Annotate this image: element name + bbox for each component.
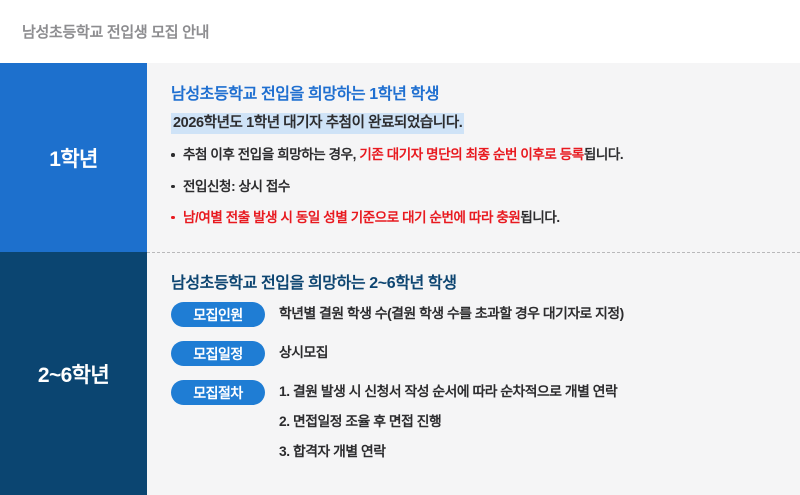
section-grade-1-heading: 남성초등학교 전입을 희망하는 1학년 학생 (171, 85, 780, 104)
sidebar-grade-2-6: 2~6학년 (0, 252, 147, 495)
section-grade-2-6-heading: 남성초등학교 전입을 희망하는 2~6학년 학생 (171, 274, 780, 293)
pill-label-procedure: 모집절차 (171, 380, 265, 405)
procedure-step-list: 1. 결원 발생 시 신청서 작성 순서에 따라 순차적으로 개별 연락 2. … (279, 383, 617, 461)
list-item: 2. 면접일정 조율 후 면접 진행 (279, 413, 617, 431)
list-item: 3. 합격자 개별 연락 (279, 443, 617, 461)
detail-row-schedule: 모집일정 상시모집 (171, 341, 780, 366)
section-grade-2-6: 2~6학년 남성초등학교 전입을 희망하는 2~6학년 학생 모집인원 학년별 … (0, 252, 800, 495)
bullet-text-part: 됩니다. (584, 147, 623, 162)
bullet-text-part: 됩니다. (520, 210, 559, 225)
divider-line (147, 252, 800, 253)
announcement-page: 남성초등학교 전입생 모집 안내 1학년 남성초등학교 전입을 희망하는 1학년… (0, 0, 800, 495)
section-grade-1-body: 남성초등학교 전입을 희망하는 1학년 학생 2026학년도 1학년 대기자 추… (147, 63, 800, 252)
page-title: 남성초등학교 전입생 모집 안내 (22, 21, 209, 42)
list-item: 1. 결원 발생 시 신청서 작성 순서에 따라 순차적으로 개별 연락 (279, 383, 617, 401)
sidebar-grade-1: 1학년 (0, 63, 147, 252)
detail-value-recruit-count: 학년별 결원 학생 수(결원 학생 수를 초과할 경우 대기자로 지정) (279, 302, 624, 323)
detail-value-schedule: 상시모집 (279, 341, 328, 362)
detail-row-recruit-count: 모집인원 학년별 결원 학생 수(결원 학생 수를 초과할 경우 대기자로 지정… (171, 302, 780, 327)
section-grade-2-6-body: 남성초등학교 전입을 희망하는 2~6학년 학생 모집인원 학년별 결원 학생 … (147, 252, 800, 495)
announcement-board: 1학년 남성초등학교 전입을 희망하는 1학년 학생 2026학년도 1학년 대… (0, 63, 800, 495)
sidebar-grade-2-6-label: 2~6학년 (38, 359, 109, 389)
pill-label-recruit-count: 모집인원 (171, 302, 265, 327)
list-item: 남/여별 전출 발생 시 동일 성별 기준으로 대기 순번에 따라 충원됩니다. (171, 209, 780, 227)
detail-rows: 모집인원 학년별 결원 학생 수(결원 학생 수를 초과할 경우 대기자로 지정… (171, 302, 780, 461)
section-grade-1: 1학년 남성초등학교 전입을 희망하는 1학년 학생 2026학년도 1학년 대… (0, 63, 800, 252)
detail-row-procedure: 모집절차 1. 결원 발생 시 신청서 작성 순서에 따라 순차적으로 개별 연… (171, 380, 780, 461)
detail-value-procedure: 1. 결원 발생 시 신청서 작성 순서에 따라 순차적으로 개별 연락 2. … (279, 380, 617, 461)
bullet-text-emphasis: 기존 대기자 명단의 최종 순번 이후로 등록 (359, 147, 583, 162)
section-grade-1-subtitle: 2026학년도 1학년 대기자 추첨이 완료되었습니다. (171, 113, 464, 134)
list-item: 추첨 이후 전입을 희망하는 경우, 기존 대기자 명단의 최종 순번 이후로 … (171, 146, 780, 164)
bullet-text-emphasis: 남/여별 전출 발생 시 동일 성별 기준으로 대기 순번에 따라 충원 (183, 210, 520, 225)
pill-label-schedule: 모집일정 (171, 341, 265, 366)
page-title-bar: 남성초등학교 전입생 모집 안내 (0, 0, 800, 63)
list-item: 전입신청: 상시 접수 (171, 178, 780, 196)
section-grade-1-bullet-list: 추첨 이후 전입을 희망하는 경우, 기존 대기자 명단의 최종 순번 이후로 … (171, 146, 780, 227)
bullet-text-part: 추첨 이후 전입을 희망하는 경우, (183, 147, 359, 162)
bullet-text-part: 전입신청: 상시 접수 (183, 179, 290, 194)
sidebar-grade-1-label: 1학년 (49, 143, 98, 173)
